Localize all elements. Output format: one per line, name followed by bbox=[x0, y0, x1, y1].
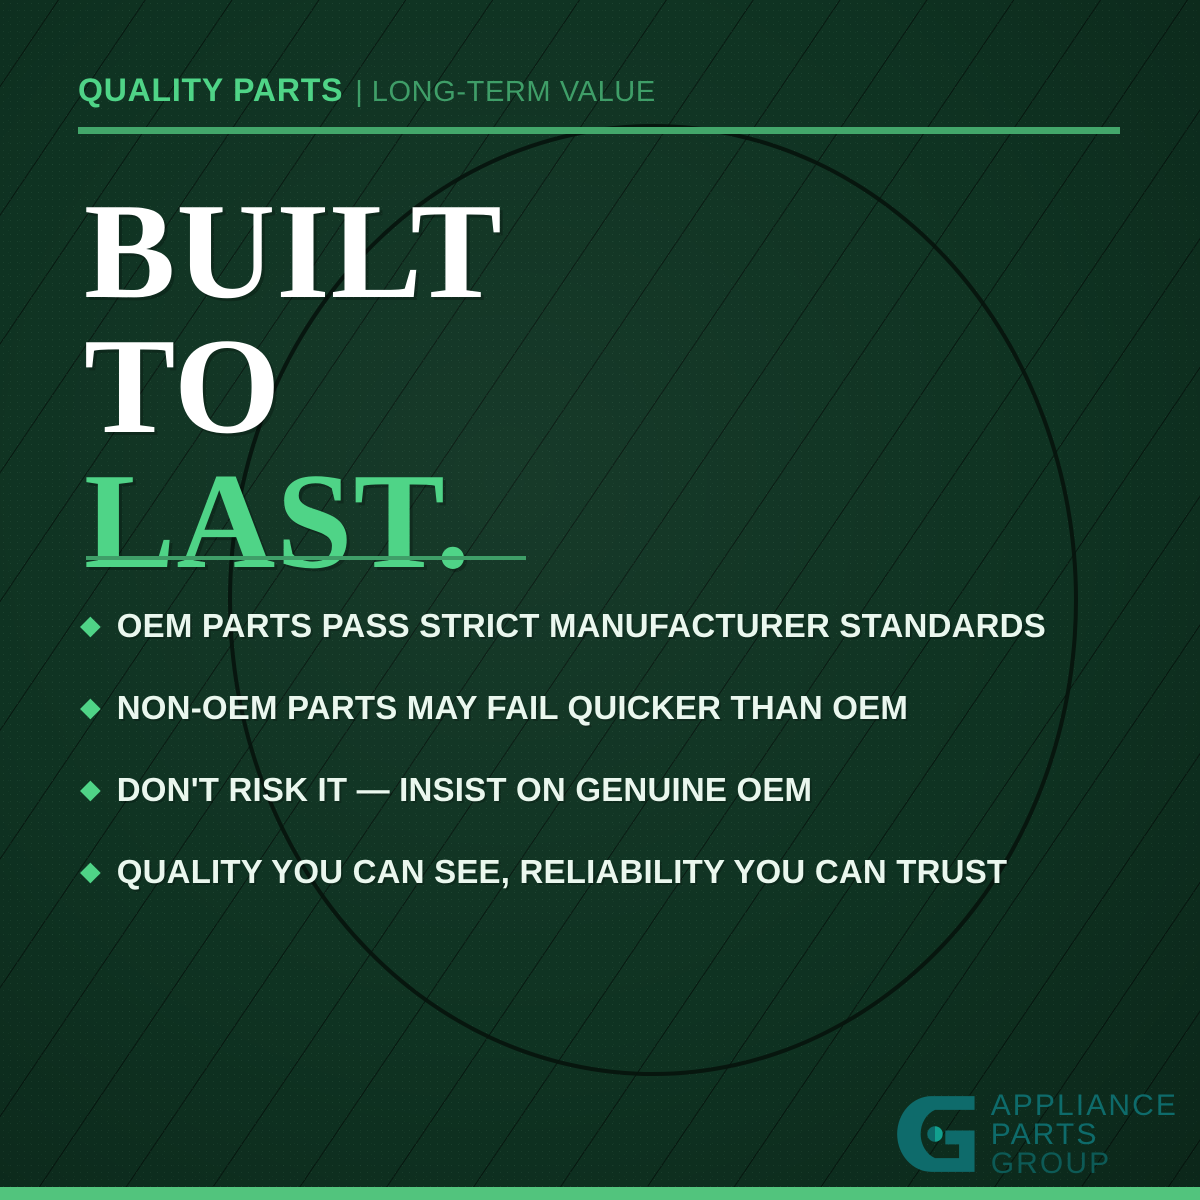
list-item: ◆ OEM PARTS PASS STRICT MANUFACTURER STA… bbox=[80, 585, 1155, 667]
diamond-bullet-icon: ◆ bbox=[80, 694, 101, 721]
headline-line-2: TO bbox=[84, 319, 503, 454]
eyebrow-separator: | bbox=[355, 76, 363, 109]
page-title: BUILT TO LAST. bbox=[84, 184, 503, 589]
brand-wordmark: APPLIANCE PARTS GROUP bbox=[991, 1091, 1178, 1178]
brand-line-3: GROUP bbox=[991, 1149, 1178, 1178]
list-item: ◆ QUALITY YOU CAN SEE, RELIABILITY YOU C… bbox=[80, 831, 1155, 913]
bottom-accent-bar bbox=[0, 1187, 1200, 1200]
eyebrow-divider-rule bbox=[78, 127, 1120, 134]
headline-line-1: BUILT bbox=[84, 184, 503, 319]
list-item-label: DON'T RISK IT — INSIST ON GENUINE OEM bbox=[117, 771, 812, 809]
diamond-bullet-icon: ◆ bbox=[80, 858, 101, 885]
diamond-bullet-icon: ◆ bbox=[80, 612, 101, 639]
promo-poster: QUALITY PARTS | LONG-TERM VALUE BUILT TO… bbox=[0, 0, 1200, 1200]
poster-content: QUALITY PARTS | LONG-TERM VALUE BUILT TO… bbox=[0, 0, 1200, 1200]
list-item-label: OEM PARTS PASS STRICT MANUFACTURER STAND… bbox=[117, 607, 1046, 645]
list-item-label: NON-OEM PARTS MAY FAIL QUICKER THAN OEM bbox=[117, 689, 908, 727]
eyebrow-main-label: QUALITY PARTS bbox=[78, 72, 343, 109]
headline-divider-rule bbox=[86, 556, 526, 560]
brand-logo: APPLIANCE PARTS GROUP bbox=[892, 1091, 1178, 1178]
g-monogram-icon bbox=[892, 1091, 978, 1177]
eyebrow: QUALITY PARTS | LONG-TERM VALUE bbox=[78, 72, 656, 109]
brand-line-1: APPLIANCE bbox=[991, 1091, 1178, 1120]
diamond-bullet-icon: ◆ bbox=[80, 776, 101, 803]
headline-line-3: LAST. bbox=[84, 454, 503, 589]
brand-line-2: PARTS bbox=[991, 1120, 1178, 1149]
list-item-label: QUALITY YOU CAN SEE, RELIABILITY YOU CAN… bbox=[117, 853, 1008, 891]
eyebrow-sub-label: LONG-TERM VALUE bbox=[372, 76, 656, 109]
list-item: ◆ NON-OEM PARTS MAY FAIL QUICKER THAN OE… bbox=[80, 667, 1155, 749]
benefit-list: ◆ OEM PARTS PASS STRICT MANUFACTURER STA… bbox=[80, 585, 1155, 913]
list-item: ◆ DON'T RISK IT — INSIST ON GENUINE OEM bbox=[80, 749, 1155, 831]
